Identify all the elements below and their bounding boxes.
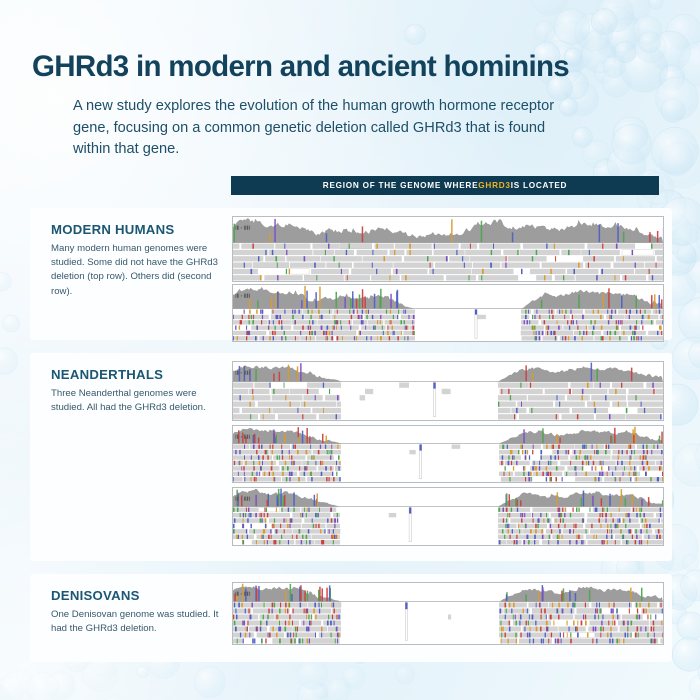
denisovan-genome-1-coverage bbox=[233, 583, 663, 602]
section-title-denisovans: DENISOVANS bbox=[51, 588, 140, 603]
section-card-denisovans: DENISOVANSOne Denisovan genome was studi… bbox=[30, 574, 672, 662]
neanderthal-genome-2-track[interactable] bbox=[232, 425, 664, 483]
section-title-modern-humans: MODERN HUMANS bbox=[51, 222, 174, 237]
banner-text-before: REGION OF THE GENOME WHERE bbox=[323, 181, 479, 190]
denisovan-genome-1-read-alignments bbox=[233, 602, 663, 644]
modern-human-with-deletion-track[interactable] bbox=[232, 284, 664, 342]
neanderthal-genome-2-scale-label bbox=[235, 427, 263, 433]
neanderthal-genome-3-track[interactable] bbox=[232, 487, 664, 546]
neanderthal-genome-3-coverage bbox=[233, 488, 663, 507]
section-title-neanderthals: NEANDERTHALS bbox=[51, 367, 163, 382]
neanderthal-genome-1-read-alignments bbox=[233, 382, 663, 420]
modern-human-with-deletion-coverage bbox=[233, 285, 663, 309]
neanderthal-genome-3-read-alignments bbox=[233, 507, 663, 545]
neanderthal-genome-2-read-alignments bbox=[233, 444, 663, 482]
section-description-modern-humans: Many modern human genomes were studied. … bbox=[51, 242, 226, 299]
modern-human-with-deletion-scale-label bbox=[235, 286, 263, 292]
page-title: GHRd3 in modern and ancient hominins bbox=[32, 50, 569, 84]
page-subtitle: A new study explores the evolution of th… bbox=[73, 96, 573, 161]
modern-human-no-deletion-track[interactable] bbox=[232, 216, 664, 282]
neanderthal-genome-1-scale-label bbox=[235, 363, 263, 369]
modern-human-no-deletion-read-alignments bbox=[233, 243, 663, 281]
modern-human-with-deletion-read-alignments bbox=[233, 309, 663, 341]
genome-region-banner: REGION OF THE GENOME WHERE GHRD3 IS LOCA… bbox=[231, 176, 659, 195]
denisovan-genome-1-scale-label bbox=[235, 584, 263, 590]
section-card-neanderthals: NEANDERTHALSThree Neanderthal genomes we… bbox=[30, 353, 672, 561]
section-card-modern-humans: MODERN HUMANSMany modern human genomes w… bbox=[30, 208, 672, 340]
neanderthal-genome-1-coverage bbox=[233, 362, 663, 382]
modern-human-no-deletion-coverage bbox=[233, 217, 663, 243]
section-description-neanderthals: Three Neanderthal genomes were studied. … bbox=[51, 387, 226, 415]
neanderthal-genome-2-coverage bbox=[233, 426, 663, 444]
infographic-page: GHRd3 in modern and ancient hominins A n… bbox=[0, 0, 700, 700]
banner-text-after: IS LOCATED bbox=[511, 181, 567, 190]
banner-gene-label: GHRD3 bbox=[478, 181, 510, 190]
denisovan-genome-1-track[interactable] bbox=[232, 582, 664, 645]
modern-human-no-deletion-scale-label bbox=[235, 218, 263, 224]
neanderthal-genome-3-scale-label bbox=[235, 489, 263, 495]
neanderthal-genome-1-track[interactable] bbox=[232, 361, 664, 421]
section-description-denisovans: One Denisovan genome was studied. It had… bbox=[51, 608, 226, 636]
